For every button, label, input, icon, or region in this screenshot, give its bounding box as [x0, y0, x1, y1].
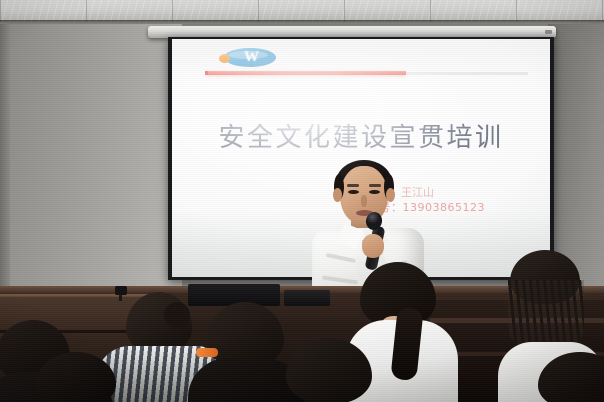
audience-head: [286, 338, 372, 402]
presenter-brow-right: [369, 184, 381, 187]
presenter-nose: [361, 195, 367, 207]
presenter-eye-right: [369, 190, 380, 194]
logo-orange-dot-icon: [219, 54, 230, 63]
slide-accent-rule-cap: [205, 71, 208, 75]
audience-member-corner-left: [36, 352, 132, 402]
presenter-ear-right: [386, 188, 395, 202]
presenter-hand: [362, 234, 384, 258]
presenter-brow-left: [347, 184, 359, 187]
roller-end-cap: [545, 30, 552, 34]
presentation-photo: W 安全文化建设宣贯培训 享人：王江山 信号：13903865123: [0, 0, 604, 402]
presenter-ear-left: [333, 188, 342, 202]
ceiling: [0, 0, 604, 22]
audience-head: [36, 352, 116, 402]
wall-left-edge: [0, 24, 10, 324]
hair-clip-icon: [196, 348, 218, 357]
audience-member-corner-right: [538, 352, 604, 402]
slide-title: 安全文化建设宣贯培训: [172, 117, 550, 154]
audience-hair-strands: [508, 280, 584, 350]
audience-head: [538, 352, 604, 402]
slide-accent-rule: [206, 71, 406, 75]
presenter-eye-left: [348, 190, 359, 194]
wall-left: [0, 24, 182, 324]
ceiling-tile-grid: [0, 0, 604, 22]
logo-w-mark: W: [244, 49, 258, 66]
audience-member-center: [268, 338, 392, 402]
slide-logo: W: [214, 44, 354, 70]
